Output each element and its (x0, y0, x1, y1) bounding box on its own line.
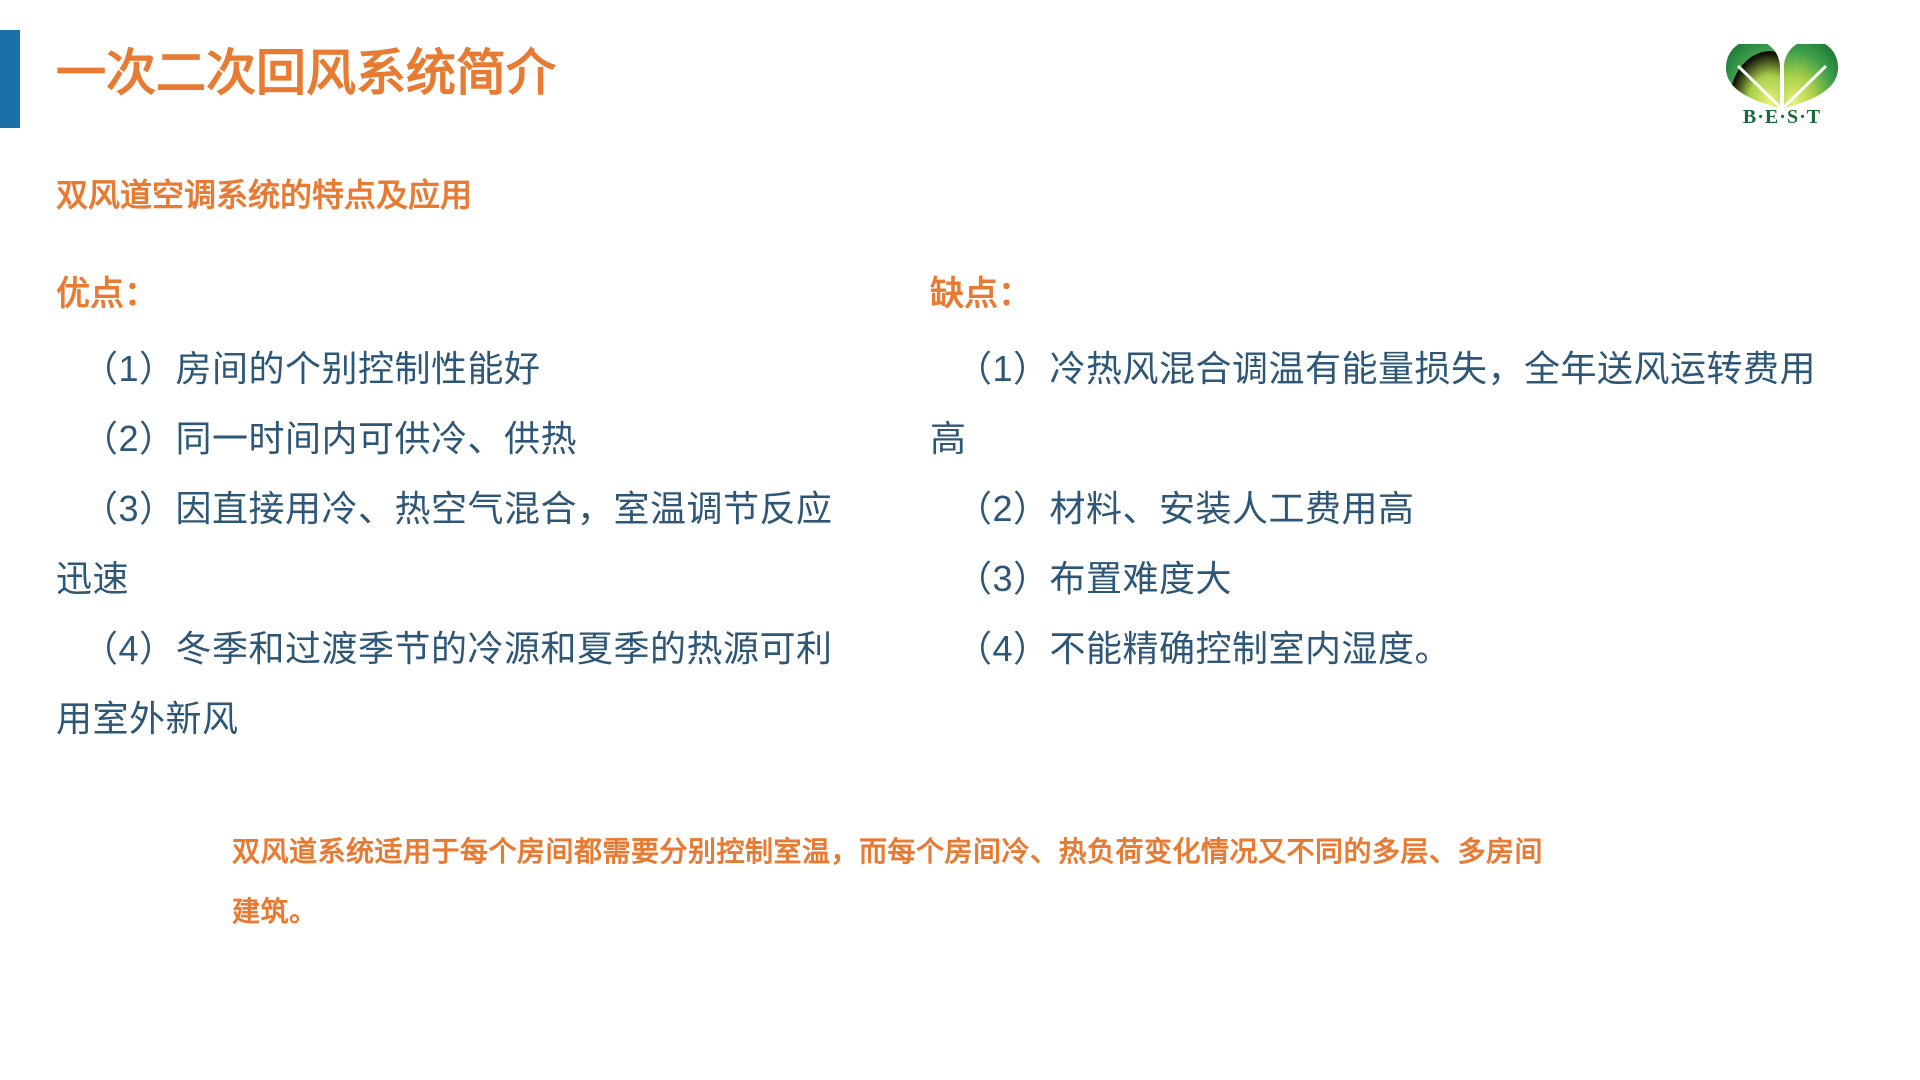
disadvantages-list: （1）冷热风混合调温有能量损失，全年送风运转费用高 （2）材料、安装人工费用高 … (930, 334, 1820, 684)
list-item: （3）布置难度大 (930, 544, 1820, 614)
slide-subtitle: 双风道空调系统的特点及应用 (56, 170, 472, 216)
list-item: （4）不能精确控制室内湿度。 (930, 614, 1820, 684)
list-item: （1）房间的个别控制性能好 (56, 334, 856, 404)
advantages-heading: 优点： (56, 272, 856, 316)
list-item: （1）冷热风混合调温有能量损失，全年送风运转费用高 (930, 334, 1820, 474)
leaf-logo-icon (1722, 44, 1842, 110)
best-logo: B·E·S·T (1722, 44, 1842, 134)
list-item: （3）因直接用冷、热空气混合，室温调节反应迅速 (56, 474, 856, 614)
title-accent-bar (0, 30, 20, 128)
list-item: （2）材料、安装人工费用高 (930, 474, 1820, 544)
disadvantages-heading: 缺点： (930, 272, 1820, 316)
advantages-column: 优点： （1）房间的个别控制性能好 （2）同一时间内可供冷、供热 （3）因直接用… (56, 272, 856, 754)
slide-canvas: 一次二次回风系统简介 (0, 0, 1920, 1080)
advantages-list: （1）房间的个别控制性能好 （2）同一时间内可供冷、供热 （3）因直接用冷、热空… (56, 334, 856, 754)
logo-wordmark: B·E·S·T (1722, 106, 1842, 129)
list-item: （2）同一时间内可供冷、供热 (56, 404, 856, 474)
list-item: （4）冬季和过渡季节的冷源和夏季的热源可利用室外新风 (56, 614, 856, 754)
disadvantages-column: 缺点： （1）冷热风混合调温有能量损失，全年送风运转费用高 （2）材料、安装人工… (930, 272, 1820, 684)
summary-note: 双风道系统适用于每个房间都需要分别控制室温，而每个房间冷、热负荷变化情况又不同的… (232, 822, 1552, 942)
page-title: 一次二次回风系统简介 (56, 38, 556, 108)
